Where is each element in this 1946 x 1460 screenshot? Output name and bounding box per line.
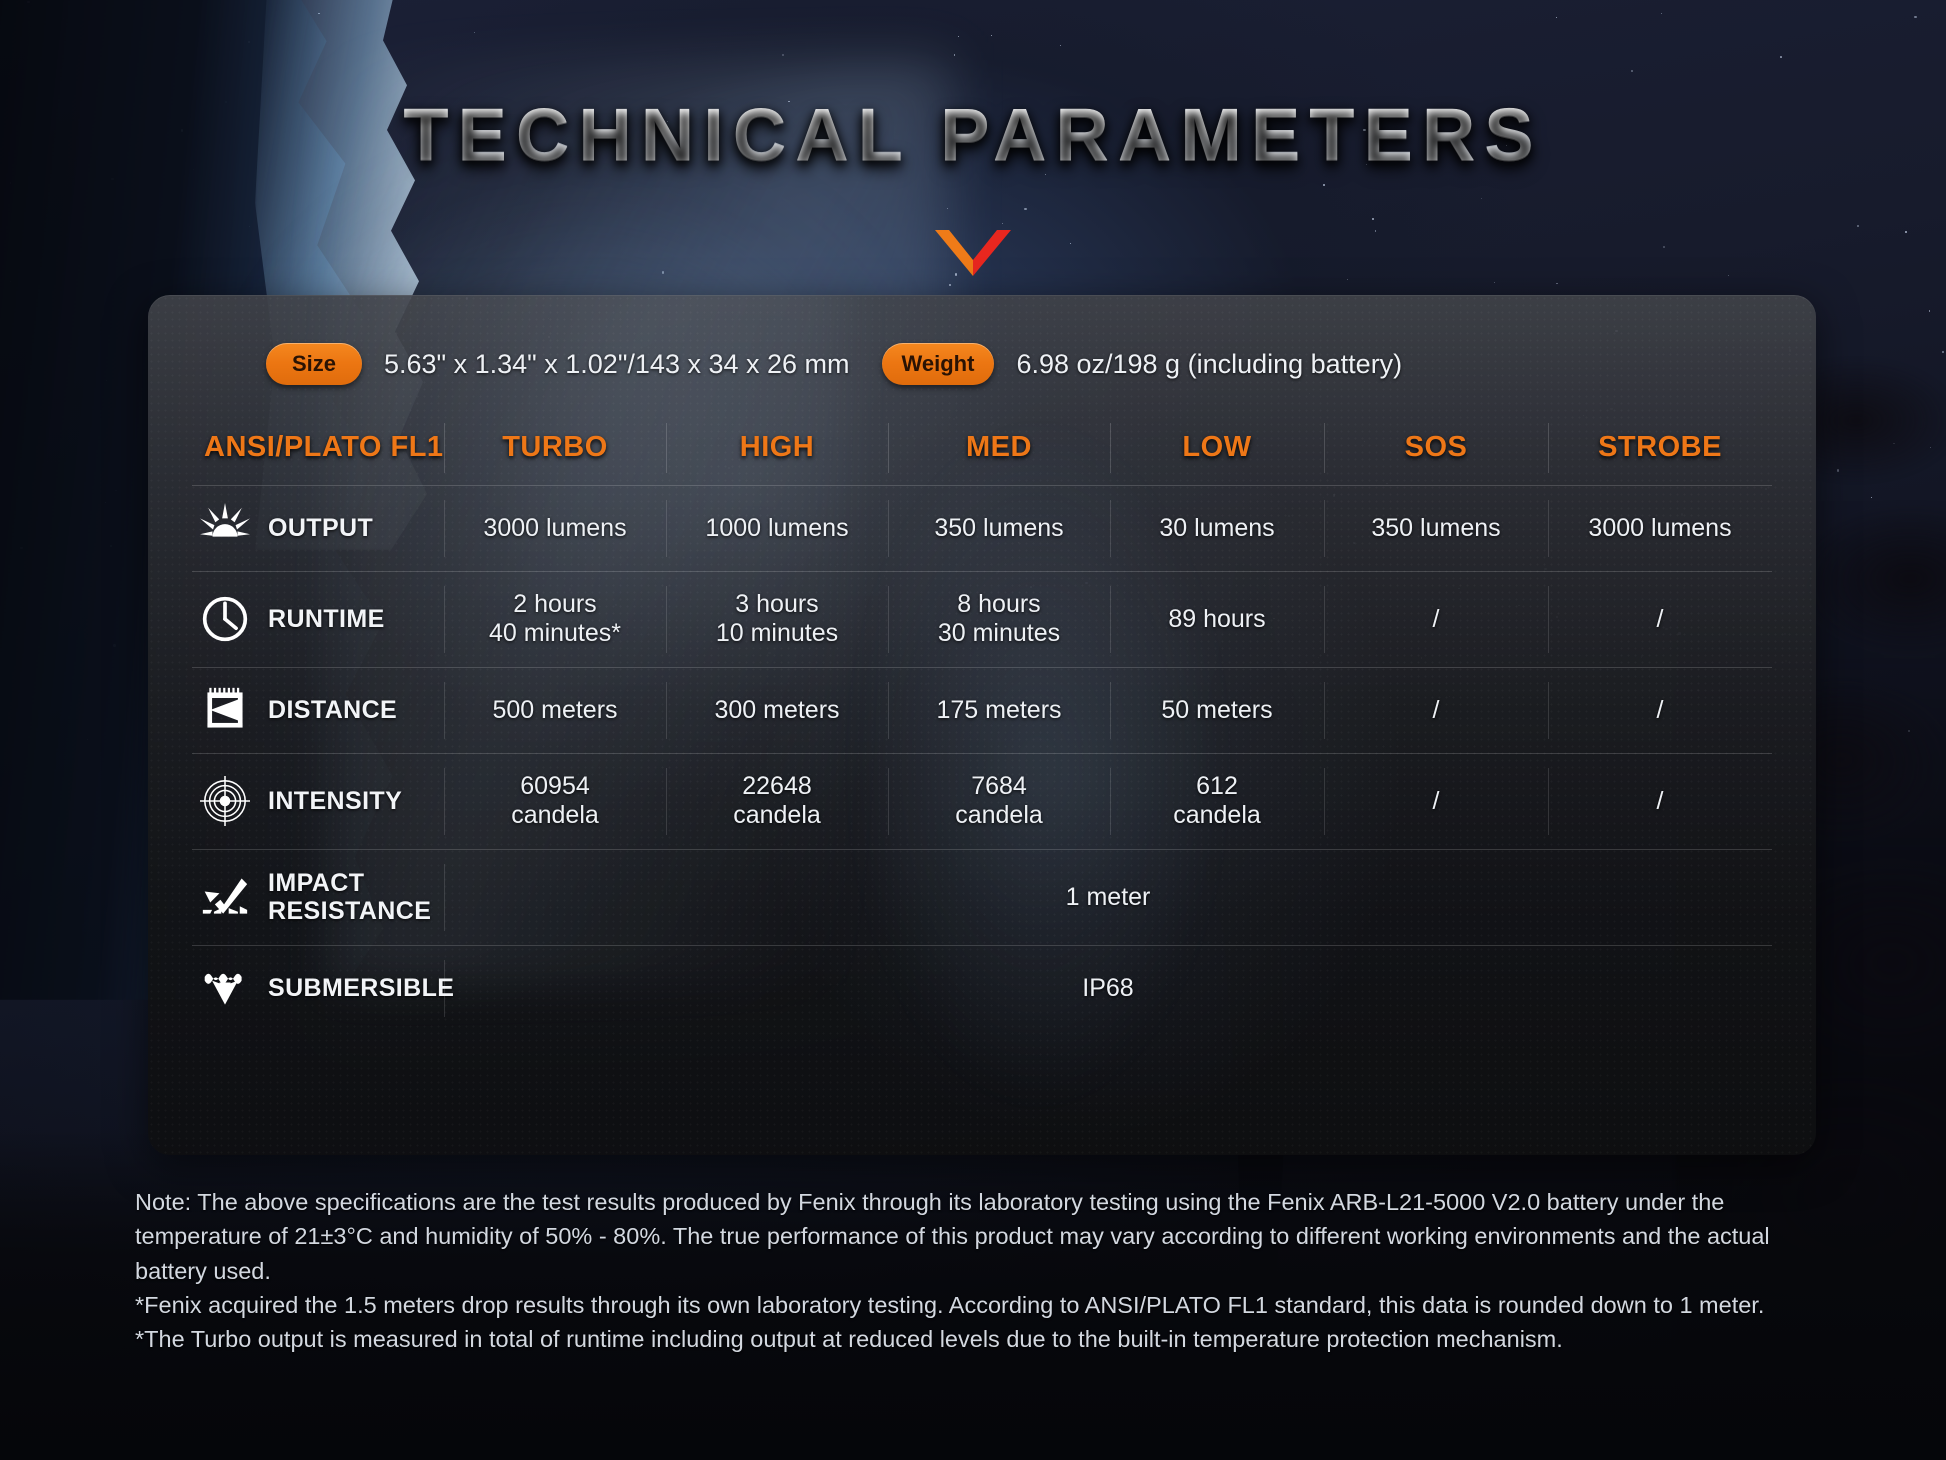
row-label-text: IMPACT RESISTANCE — [268, 869, 431, 925]
row-label-text: INTENSITY — [268, 787, 402, 815]
note-line-2: *Fenix acquired the 1.5 meters drop resu… — [135, 1288, 1825, 1322]
cell-runtime-low: 89 hours — [1110, 571, 1324, 667]
row-label-submersible: SUBMERSIBLE — [192, 945, 444, 1031]
row-label-impact-resistance: IMPACT RESISTANCE — [192, 849, 444, 945]
size-weight-row: Size 5.63" x 1.34" x 1.02"/143 x 34 x 26… — [148, 321, 1816, 407]
target-icon — [196, 772, 254, 830]
cell-distance-low: 50 meters — [1110, 667, 1324, 753]
col-header-sos: SOS — [1324, 411, 1548, 485]
impact-arrow-icon — [196, 868, 254, 926]
cell-impact-resistance-value: 1 meter — [444, 849, 1772, 945]
table-row: SUBMERSIBLE IP68 — [192, 945, 1772, 1031]
weight-badge: Weight — [882, 343, 995, 385]
col-header-low: LOW — [1110, 411, 1324, 485]
sunburst-icon — [196, 499, 254, 557]
cell-distance-turbo: 500 meters — [444, 667, 666, 753]
row-label-text: OUTPUT — [268, 514, 373, 542]
row-label-output: OUTPUT — [192, 485, 444, 571]
col-header-strobe: STROBE — [1548, 411, 1772, 485]
cell-distance-med: 175 meters — [888, 667, 1110, 753]
cell-output-high: 1000 lumens — [666, 485, 888, 571]
cell-runtime-sos: / — [1324, 571, 1548, 667]
specifications-table: ANSI/PLATO FL1 TURBO HIGH MED LOW SOS ST… — [192, 411, 1772, 1031]
impact-label-line2: RESISTANCE — [268, 897, 431, 925]
cell-runtime-high: 3 hours10 minutes — [666, 571, 888, 667]
cell-distance-high: 300 meters — [666, 667, 888, 753]
cell-runtime-strobe: / — [1548, 571, 1772, 667]
note-line-3: *The Turbo output is measured in total o… — [135, 1322, 1825, 1356]
row-label-text: DISTANCE — [268, 696, 397, 724]
row-label-text: RUNTIME — [268, 605, 385, 633]
weight-value: 6.98 oz/198 g (including battery) — [1016, 349, 1402, 380]
submersible-icon — [196, 959, 254, 1017]
row-label-intensity: INTENSITY — [192, 753, 444, 849]
col-header-med: MED — [888, 411, 1110, 485]
col-header-high: HIGH — [666, 411, 888, 485]
cell-intensity-med: 7684candela — [888, 753, 1110, 849]
col-header-turbo: TURBO — [444, 411, 666, 485]
note-line-1: Note: The above specifications are the t… — [135, 1185, 1825, 1288]
row-label-distance: DISTANCE — [192, 667, 444, 753]
ruler-beam-icon — [196, 681, 254, 739]
cell-runtime-turbo: 2 hours40 minutes* — [444, 571, 666, 667]
table-row: RUNTIME 2 hours40 minutes* 3 hours10 min… — [192, 571, 1772, 667]
spec-panel: Size 5.63" x 1.34" x 1.02"/143 x 34 x 26… — [148, 295, 1816, 1155]
table-row: INTENSITY 60954candela 22648candela 7684… — [192, 753, 1772, 849]
size-value: 5.63" x 1.34" x 1.02"/143 x 34 x 26 mm — [384, 349, 850, 380]
cell-intensity-turbo: 60954candela — [444, 753, 666, 849]
col-header-ansi: ANSI/PLATO FL1 — [192, 411, 444, 485]
clock-icon — [196, 590, 254, 648]
cell-submersible-value: IP68 — [444, 945, 1772, 1031]
cell-output-turbo: 3000 lumens — [444, 485, 666, 571]
page-title: TECHNICAL PARAMETERS — [0, 92, 1946, 177]
cell-runtime-med: 8 hours30 minutes — [888, 571, 1110, 667]
size-badge: Size — [266, 343, 362, 385]
footnotes: Note: The above specifications are the t… — [135, 1185, 1825, 1356]
table-header-row: ANSI/PLATO FL1 TURBO HIGH MED LOW SOS ST… — [192, 411, 1772, 485]
cell-intensity-sos: / — [1324, 753, 1548, 849]
cell-output-strobe: 3000 lumens — [1548, 485, 1772, 571]
cell-output-sos: 350 lumens — [1324, 485, 1548, 571]
table-row: OUTPUT 3000 lumens 1000 lumens 350 lumen… — [192, 485, 1772, 571]
technical-parameters-page: TECHNICAL PARAMETERS Size 5.63" x 1.34" … — [0, 0, 1946, 1460]
row-label-text: SUBMERSIBLE — [268, 974, 454, 1002]
row-label-runtime: RUNTIME — [192, 571, 444, 667]
cell-intensity-strobe: / — [1548, 753, 1772, 849]
cell-output-med: 350 lumens — [888, 485, 1110, 571]
chevron-down-icon — [935, 230, 1011, 276]
table-row: DISTANCE 500 meters 300 meters 175 meter… — [192, 667, 1772, 753]
impact-label-line1: IMPACT — [268, 869, 364, 897]
cell-distance-sos: / — [1324, 667, 1548, 753]
cell-distance-strobe: / — [1548, 667, 1772, 753]
cell-intensity-high: 22648candela — [666, 753, 888, 849]
cell-output-low: 30 lumens — [1110, 485, 1324, 571]
cell-intensity-low: 612candela — [1110, 753, 1324, 849]
table-row: IMPACT RESISTANCE 1 meter — [192, 849, 1772, 945]
